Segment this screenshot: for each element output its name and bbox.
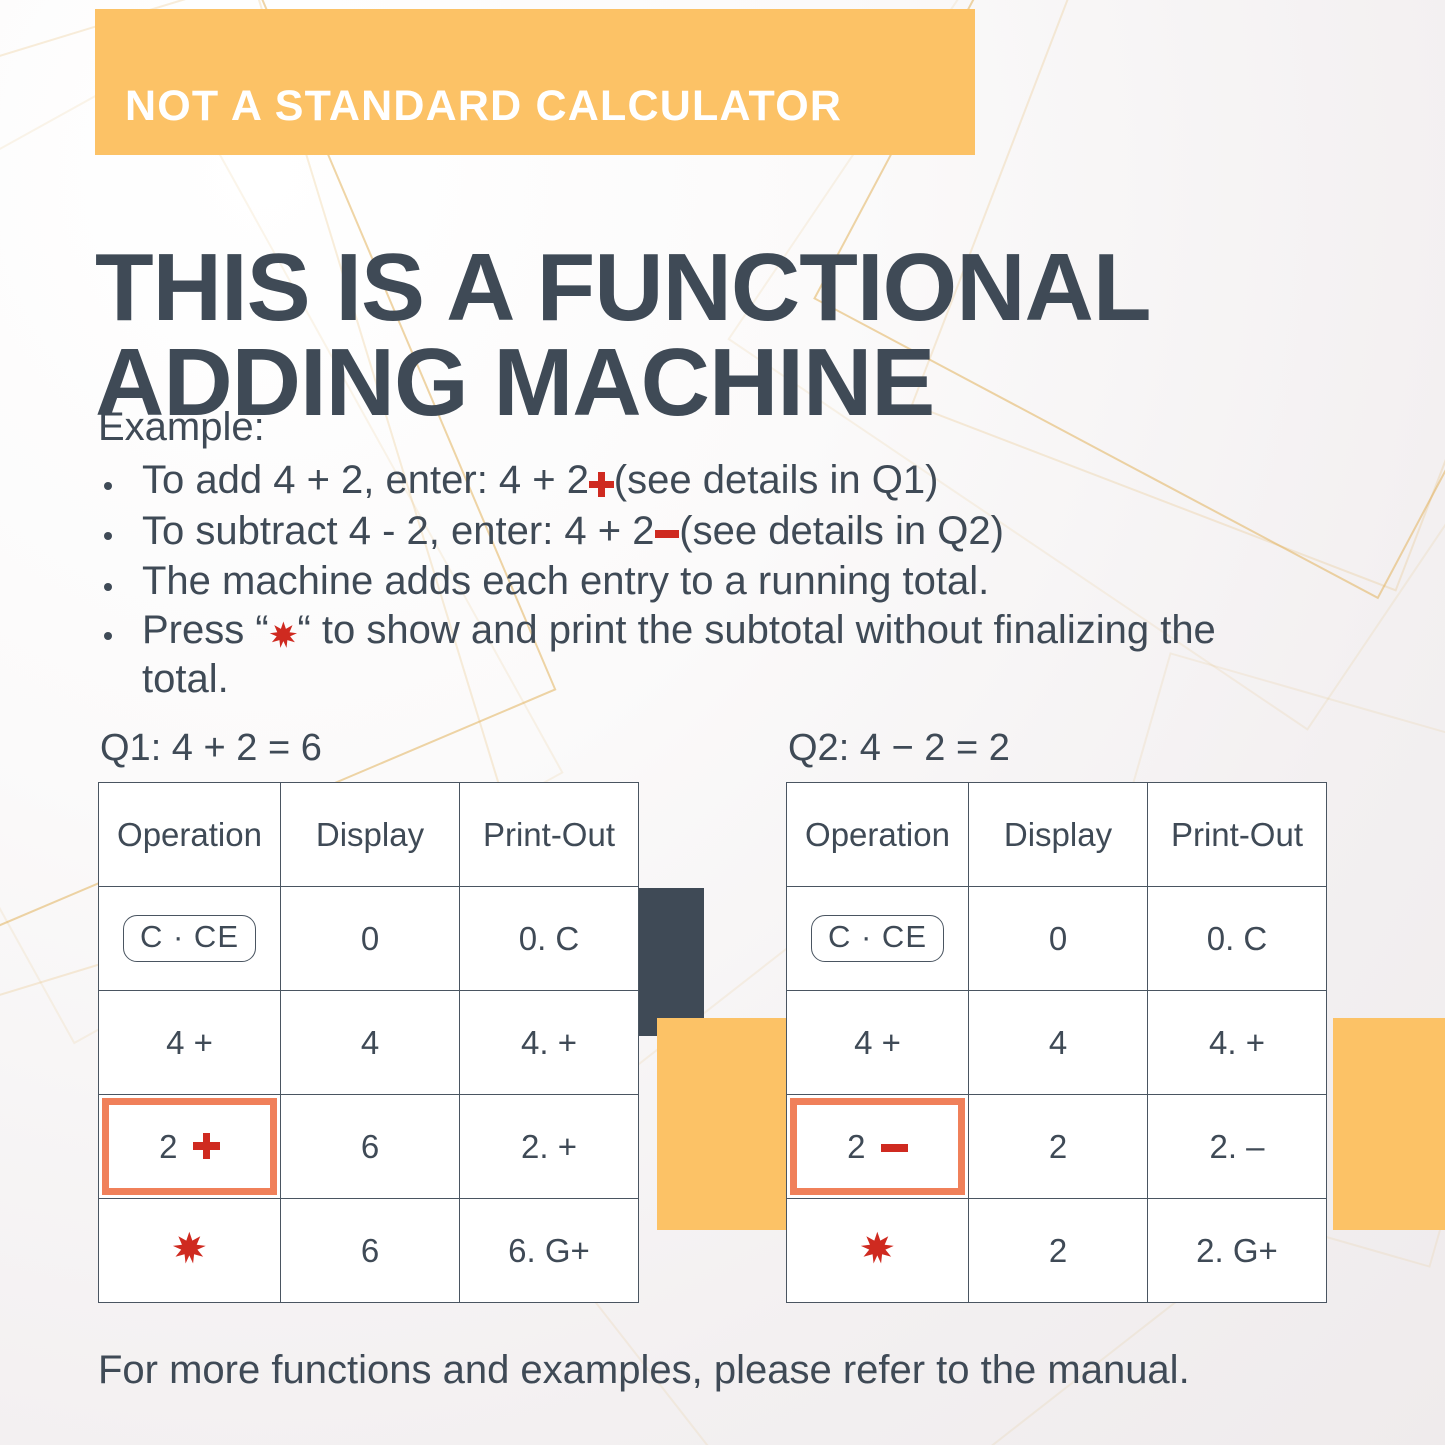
cell-display: 2 bbox=[969, 1199, 1148, 1303]
cell-operation: 4 + bbox=[99, 991, 281, 1095]
cell-display: 4 bbox=[969, 991, 1148, 1095]
table-row: 6 6. G+ bbox=[99, 1199, 639, 1303]
cell-printout: 2. G+ bbox=[1148, 1199, 1327, 1303]
clear-entry-button[interactable]: C · CE bbox=[811, 915, 944, 962]
cell-printout: 0. C bbox=[460, 887, 639, 991]
cell-display: 6 bbox=[281, 1095, 460, 1199]
table-row: C · CE 0 0. C bbox=[99, 887, 639, 991]
instruction-list: To add 4 + 2, enter: 4 + 2(see details i… bbox=[98, 457, 1278, 703]
column-header-printout: Print-Out bbox=[1148, 783, 1327, 887]
operation-number: 2 bbox=[159, 1128, 177, 1166]
cell-printout: 4. + bbox=[460, 991, 639, 1095]
cell-operation-highlighted: 2 bbox=[787, 1095, 969, 1199]
bullet-dot-icon bbox=[104, 632, 112, 640]
table-row: 2 2 2. – bbox=[787, 1095, 1327, 1199]
plus-icon bbox=[589, 459, 614, 506]
bullet-dot-icon bbox=[104, 482, 112, 490]
cell-operation bbox=[787, 1199, 969, 1303]
q2-table-section: Q2: 4 − 2 = 2 Operation Display Print-Ou… bbox=[786, 727, 1326, 1303]
bullet-text-after: (see details in Q2) bbox=[679, 509, 1004, 553]
asterisk-icon bbox=[172, 1230, 207, 1270]
operation-entry: 2 bbox=[847, 1128, 908, 1166]
decorative-dark-block bbox=[638, 888, 704, 1036]
q2-table-title: Q2: 4 − 2 = 2 bbox=[788, 727, 1326, 770]
table-header-row: Operation Display Print-Out bbox=[99, 783, 639, 887]
bullet-dot-icon bbox=[104, 583, 112, 591]
column-header-operation: Operation bbox=[99, 783, 281, 887]
table-row: 2 6 2. + bbox=[99, 1095, 639, 1199]
bullet-text-before: Press “ bbox=[142, 608, 269, 652]
cell-operation: C · CE bbox=[99, 887, 281, 991]
column-header-operation: Operation bbox=[787, 783, 969, 887]
operation-number: 2 bbox=[847, 1128, 865, 1166]
kicker-banner: NOT A STANDARD CALCULATOR bbox=[95, 9, 975, 155]
list-item: To subtract 4 - 2, enter: 4 + 2(see deta… bbox=[98, 508, 1278, 557]
bullet-text-after: (see details in Q1) bbox=[614, 458, 939, 502]
bullet-text-before: To subtract 4 - 2, enter: 4 + 2 bbox=[142, 509, 655, 553]
cell-display: 0 bbox=[281, 887, 460, 991]
bullet-dot-icon bbox=[104, 532, 112, 540]
cell-printout: 2. – bbox=[1148, 1095, 1327, 1199]
cell-operation-highlighted: 2 bbox=[99, 1095, 281, 1199]
cell-printout: 0. C bbox=[1148, 887, 1327, 991]
table-header-row: Operation Display Print-Out bbox=[787, 783, 1327, 887]
table-row: 2 2. G+ bbox=[787, 1199, 1327, 1303]
q2-table: Operation Display Print-Out C · CE 0 0. … bbox=[786, 782, 1327, 1303]
cell-printout: 6. G+ bbox=[460, 1199, 639, 1303]
column-header-display: Display bbox=[281, 783, 460, 887]
cell-printout: 2. + bbox=[460, 1095, 639, 1199]
example-block: Example: To add 4 + 2, enter: 4 + 2(see … bbox=[98, 404, 1278, 705]
cell-display: 6 bbox=[281, 1199, 460, 1303]
decorative-orange-block bbox=[1333, 1018, 1445, 1230]
cell-operation bbox=[99, 1199, 281, 1303]
table-row: C · CE 0 0. C bbox=[787, 887, 1327, 991]
page-title: THIS IS A FUNCTIONAL ADDING MACHINE bbox=[95, 240, 1385, 430]
q1-table-title: Q1: 4 + 2 = 6 bbox=[100, 727, 638, 770]
asterisk-icon bbox=[269, 609, 298, 656]
list-item: The machine adds each entry to a running… bbox=[98, 558, 1278, 605]
bullet-text-after: “ to show and print the subtotal without… bbox=[142, 608, 1216, 701]
list-item: Press ““ to show and print the subtotal … bbox=[98, 607, 1278, 703]
clear-entry-button[interactable]: C · CE bbox=[123, 915, 256, 962]
column-header-display: Display bbox=[969, 783, 1148, 887]
infographic-canvas: NOT A STANDARD CALCULATOR THIS IS A FUNC… bbox=[0, 0, 1445, 1445]
minus-icon bbox=[655, 510, 680, 557]
plus-icon bbox=[193, 1128, 219, 1166]
q1-table: Operation Display Print-Out C · CE 0 0. … bbox=[98, 782, 639, 1303]
bullet-text-before: To add 4 + 2, enter: 4 + 2 bbox=[142, 458, 589, 502]
operation-entry: 2 bbox=[159, 1128, 220, 1166]
list-item: To add 4 + 2, enter: 4 + 2(see details i… bbox=[98, 457, 1278, 506]
cell-operation: 4 + bbox=[787, 991, 969, 1095]
cell-printout: 4. + bbox=[1148, 991, 1327, 1095]
kicker-label: NOT A STANDARD CALCULATOR bbox=[95, 82, 842, 155]
cell-operation: C · CE bbox=[787, 887, 969, 991]
cell-display: 0 bbox=[969, 887, 1148, 991]
bullet-text-before: The machine adds each entry to a running… bbox=[142, 559, 989, 603]
table-row: 4 + 4 4. + bbox=[787, 991, 1327, 1095]
example-label: Example: bbox=[98, 404, 1278, 451]
decorative-orange-block bbox=[657, 1018, 787, 1230]
cell-display: 2 bbox=[969, 1095, 1148, 1199]
column-header-printout: Print-Out bbox=[460, 783, 639, 887]
q1-table-section: Q1: 4 + 2 = 6 Operation Display Print-Ou… bbox=[98, 727, 638, 1303]
table-row: 4 + 4 4. + bbox=[99, 991, 639, 1095]
cell-display: 4 bbox=[281, 991, 460, 1095]
minus-icon bbox=[881, 1128, 907, 1166]
footer-note: For more functions and examples, please … bbox=[98, 1348, 1398, 1393]
asterisk-icon bbox=[860, 1230, 895, 1270]
